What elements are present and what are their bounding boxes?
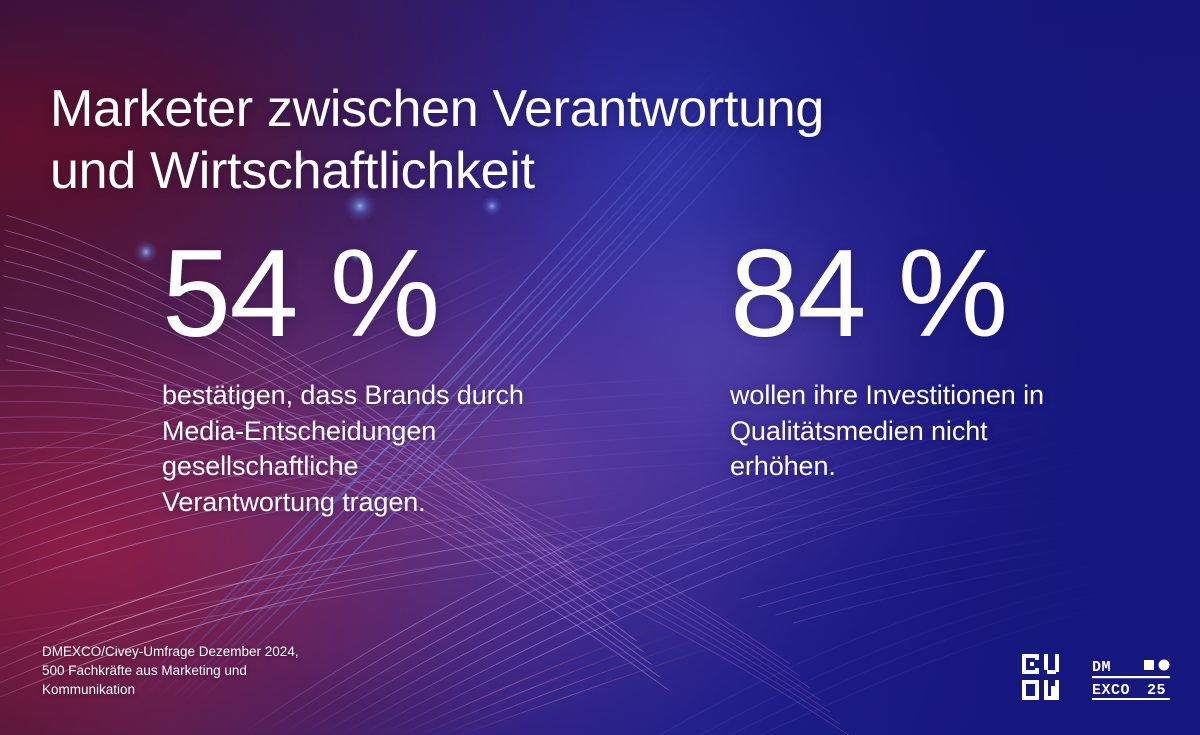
dmexco-divider-top (1092, 676, 1170, 678)
statistic-value-1: 54 % (162, 232, 642, 356)
dmexco-circle-mark (1159, 660, 1170, 671)
statistic-caption-2: wollen ihre Investitionen in Qualitätsme… (730, 378, 1160, 485)
statistic-block-2: 84 % wollen ihre Investitionen in Qualit… (730, 232, 1160, 485)
dmexco-square-mark (1144, 660, 1154, 670)
dmexco-divider-bottom (1092, 698, 1170, 700)
statistic-block-1: 54 % bestätigen, dass Brands durch Media… (162, 232, 642, 521)
page-title: Marketer zwischen Verantwortung und Wirt… (50, 79, 1050, 203)
dmexco-year-text: 25 (1147, 682, 1166, 699)
dmexco-line1-text: DM (1092, 659, 1111, 676)
infographic-canvas: Marketer zwischen Verantwortung und Wirt… (0, 0, 1200, 735)
statistic-caption-1: bestätigen, dass Brands durch Media-Ents… (162, 378, 642, 521)
source-note: DMEXCO/Civey-Umfrage Dezember 2024, 500 … (42, 642, 299, 699)
statistic-value-2: 84 % (730, 232, 1160, 356)
dmexco-logo: DM EXCO 25 (1092, 654, 1172, 705)
content-layer: Marketer zwischen Verantwortung und Wirt… (0, 0, 1200, 735)
logo-group: DM EXCO 25 (1022, 654, 1172, 705)
bvdw-logo (1022, 654, 1074, 705)
dmexco-line2-text: EXCO (1092, 682, 1130, 699)
